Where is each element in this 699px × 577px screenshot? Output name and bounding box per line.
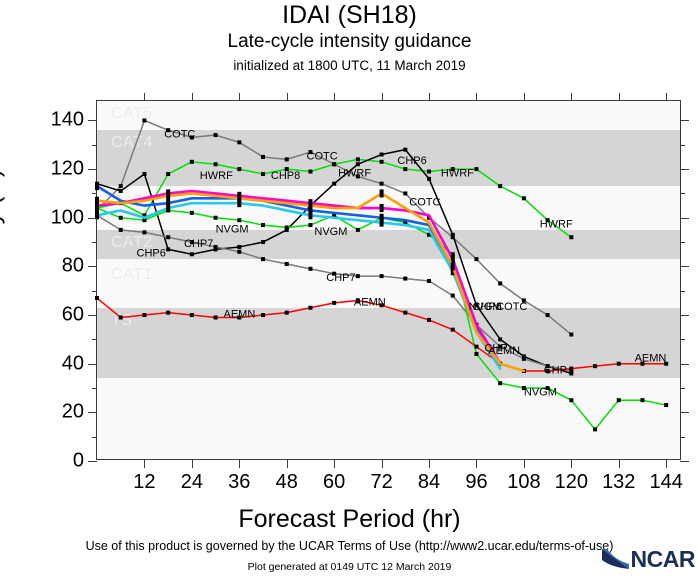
data-point (332, 301, 336, 305)
data-point (380, 189, 384, 197)
data-point (214, 216, 218, 220)
x-axis-tick-top (429, 93, 430, 101)
data-point (261, 172, 265, 176)
data-point (142, 118, 146, 122)
data-point (308, 211, 312, 219)
data-point (617, 362, 621, 366)
series-inline-label: COTC (409, 197, 440, 209)
data-point (498, 281, 502, 285)
x-axis-tick (619, 459, 620, 468)
y-axis-label: Forecast Intensity (kt) (0, 168, 7, 408)
data-point (166, 311, 170, 315)
data-point (190, 211, 194, 215)
y-axis-tick (88, 120, 97, 121)
data-point (380, 274, 384, 278)
data-point (214, 245, 218, 249)
series-inline-label: HWRF (540, 219, 573, 231)
data-point (308, 267, 312, 271)
data-point (190, 160, 194, 164)
page-title: IDAI (SH18) (0, 0, 699, 28)
data-point (119, 216, 123, 220)
data-point (403, 167, 407, 171)
series-ens-cyan (95, 199, 500, 368)
x-axis-tick (192, 459, 193, 468)
ncar-logo-text: NCAR (631, 548, 695, 571)
y-axis-minor-tick-right (680, 145, 685, 146)
y-axis-tick (88, 461, 97, 462)
x-axis-tick (571, 459, 572, 468)
data-point (593, 364, 597, 368)
series-inline-label: COTC (307, 150, 338, 162)
y-axis-tick-right (680, 315, 689, 316)
data-point (285, 262, 289, 266)
ncar-logo: NCAR (601, 547, 695, 571)
data-point (569, 333, 573, 337)
data-point (95, 296, 99, 300)
x-axis-tick-label: 60 (323, 471, 345, 494)
data-point (380, 182, 384, 186)
y-axis-minor-tick-right (680, 242, 685, 243)
data-point (119, 184, 123, 188)
x-axis-tick-label: 132 (602, 471, 635, 494)
y-axis-tick-label: 0 (73, 450, 84, 473)
title-block: IDAI (SH18) Late-cycle intensity guidanc… (0, 0, 699, 74)
data-point (380, 160, 384, 164)
data-point (261, 257, 265, 261)
series-inline-label: NVGM (524, 386, 557, 398)
ncar-swoosh-icon (601, 547, 631, 571)
series-inline-label: CHP6 (137, 248, 166, 260)
data-point (474, 257, 478, 261)
data-point (261, 313, 265, 317)
series-inline-label: COTC (164, 129, 195, 141)
data-point (569, 235, 573, 239)
series-line (97, 203, 500, 368)
x-axis-tick-top (144, 93, 145, 101)
chart-svg: COTCCOTCCOTCCOTCHWRFHWRFHWRFHWRFCHP6CHP6… (97, 101, 682, 461)
y-axis-minor-tick-right (680, 291, 685, 292)
chart-page: IDAI (SH18) Late-cycle intensity guidanc… (0, 0, 699, 577)
y-axis-tick (88, 412, 97, 413)
data-point (95, 182, 99, 190)
x-axis-tick-label: 108 (507, 471, 540, 494)
x-axis-tick-label: 84 (418, 471, 440, 494)
data-point (498, 337, 502, 341)
initialization-time: initialized at 1800 UTC, 11 March 2019 (0, 54, 699, 74)
y-axis-tick-label: 100 (51, 206, 84, 229)
y-axis-tick-right (680, 120, 689, 121)
y-axis-tick-label: 120 (51, 158, 84, 181)
data-point (332, 162, 336, 166)
data-point (498, 381, 502, 385)
plot-area: TSCAT1CAT2CAT3CAT4CAT5 COTCCOTCCOTCCOTCH… (96, 100, 681, 460)
x-axis-tick-label: 120 (555, 471, 588, 494)
data-point (522, 196, 526, 200)
series-inline-label: HWRF (441, 167, 474, 179)
data-point (332, 182, 336, 186)
data-point (451, 262, 455, 270)
y-axis-minor-tick (92, 388, 97, 389)
data-point (498, 184, 502, 188)
data-point (308, 306, 312, 310)
y-axis-tick-right (680, 218, 689, 219)
y-axis-tick-right (680, 266, 689, 267)
y-axis-tick (88, 315, 97, 316)
y-axis-minor-tick-right (680, 193, 685, 194)
data-point (237, 167, 241, 171)
x-axis-tick-top (476, 93, 477, 101)
data-point (664, 403, 668, 407)
data-point (403, 191, 407, 195)
data-point (285, 311, 289, 315)
x-axis-tick (476, 459, 477, 468)
y-axis-minor-tick-right (680, 339, 685, 340)
x-axis-tick-top (619, 93, 620, 101)
y-axis-tick-right (680, 169, 689, 170)
data-point (451, 294, 455, 298)
data-point (285, 225, 289, 229)
y-axis-tick (88, 218, 97, 219)
y-axis-tick (88, 266, 97, 267)
y-axis-minor-tick (92, 437, 97, 438)
series-inline-label: HWRF (338, 167, 371, 179)
y-axis-tick-label: 40 (62, 352, 84, 375)
data-point (474, 352, 478, 356)
x-axis-tick (144, 459, 145, 468)
x-axis-tick-top (382, 93, 383, 101)
data-point (427, 170, 431, 174)
data-point (617, 398, 621, 402)
data-point (427, 177, 431, 181)
data-point (380, 204, 384, 212)
y-axis-tick-label: 20 (62, 401, 84, 424)
series-inline-label: HWRF (200, 170, 233, 182)
y-axis-tick-label: 60 (62, 304, 84, 327)
data-point (593, 427, 597, 431)
series-inline-label: NVGM (469, 301, 502, 313)
x-axis-tick-top (334, 93, 335, 101)
data-point (356, 228, 360, 232)
data-point (142, 172, 146, 176)
data-point (95, 197, 99, 205)
data-point (285, 157, 289, 161)
series-inline-label: NVGM (314, 226, 347, 238)
data-point (403, 148, 407, 152)
series-inline-label: AEMN (224, 309, 256, 321)
data-point (261, 155, 265, 159)
x-axis-tick (666, 459, 667, 468)
data-point (569, 367, 573, 371)
data-point (119, 189, 123, 193)
x-axis-tick-label: 48 (276, 471, 298, 494)
series-chp6 (95, 148, 573, 376)
x-axis-tick (429, 459, 430, 468)
x-axis-tick (287, 459, 288, 468)
series-line (97, 208, 666, 429)
data-point (142, 313, 146, 317)
x-axis-label: Forecast Period (hr) (0, 505, 699, 534)
data-point (119, 228, 123, 232)
data-point (214, 315, 218, 319)
series-inline-label: CHP (544, 364, 567, 376)
x-axis-tick (334, 459, 335, 468)
y-axis-tick-right (680, 412, 689, 413)
data-point (166, 204, 170, 212)
data-point (451, 233, 455, 237)
data-point (166, 235, 170, 239)
data-point (569, 398, 573, 402)
y-axis-tick-label: 140 (51, 109, 84, 132)
data-point (237, 140, 241, 144)
x-axis-tick-label: 12 (133, 471, 155, 494)
data-point (474, 167, 478, 171)
data-point (356, 162, 360, 166)
data-point (237, 194, 241, 202)
y-axis-tick-right (680, 364, 689, 365)
data-point (522, 357, 526, 361)
x-axis-tick-top (666, 93, 667, 101)
data-point (119, 315, 123, 319)
data-point (166, 247, 170, 251)
y-axis-minor-tick-right (680, 437, 685, 438)
x-axis-tick-label: 96 (465, 471, 487, 494)
x-axis-tick-label: 72 (370, 471, 392, 494)
y-axis-minor-tick-right (680, 388, 685, 389)
x-axis-tick (382, 459, 383, 468)
data-point (261, 223, 265, 227)
series-inline-label: CHP (484, 343, 507, 355)
data-point (474, 345, 478, 349)
data-point (451, 328, 455, 332)
data-point (190, 252, 194, 256)
y-axis-tick-right (680, 461, 689, 462)
series-inline-label: AEMN (354, 296, 386, 308)
x-axis-tick-top (524, 93, 525, 101)
y-axis-minor-tick (92, 291, 97, 292)
data-point (214, 162, 218, 166)
y-axis-minor-tick (92, 339, 97, 340)
data-point (166, 172, 170, 176)
y-axis-minor-tick (92, 242, 97, 243)
series-inline-label: CHP6 (397, 155, 426, 167)
data-point (237, 245, 241, 249)
data-point (640, 398, 644, 402)
data-point (308, 170, 312, 174)
data-point (237, 250, 241, 254)
data-point (142, 230, 146, 234)
generation-timestamp: Plot generated at 0149 UTC 12 March 2019 (0, 561, 699, 573)
data-point (380, 219, 384, 227)
x-axis-tick-top (287, 93, 288, 101)
x-axis-tick-top (192, 93, 193, 101)
data-point (546, 313, 550, 317)
series-inline-label: AEMN (635, 352, 667, 364)
data-point (403, 311, 407, 315)
data-point (427, 318, 431, 322)
x-axis-tick-label: 144 (650, 471, 683, 494)
series-inline-label: CHP7 (184, 238, 213, 250)
data-point (261, 240, 265, 244)
series-line (97, 298, 666, 371)
data-point (403, 277, 407, 281)
data-point (356, 274, 360, 278)
series-inline-label: CHP7 (326, 272, 355, 284)
x-axis-tick-top (239, 93, 240, 101)
data-point (214, 133, 218, 137)
x-axis-tick-top (571, 93, 572, 101)
series-inline-label: NVGM (216, 223, 249, 235)
data-point (427, 279, 431, 283)
data-point (237, 218, 241, 222)
x-axis-tick (239, 459, 240, 468)
y-axis-tick (88, 364, 97, 365)
data-point (190, 313, 194, 317)
series-inline-label: CHP8 (271, 170, 300, 182)
y-axis-tick (88, 169, 97, 170)
x-axis-tick (524, 459, 525, 468)
data-point (356, 157, 360, 161)
terms-of-use-text: Use of this product is governed by the U… (0, 539, 699, 553)
y-axis-minor-tick (92, 193, 97, 194)
data-point (308, 202, 312, 210)
data-point (380, 153, 384, 157)
x-axis-tick-label: 24 (181, 471, 203, 494)
y-axis-minor-tick (92, 145, 97, 146)
page-subtitle: Late-cycle intensity guidance (0, 28, 699, 54)
data-point (166, 192, 170, 200)
y-axis-tick-label: 80 (62, 255, 84, 278)
x-axis-tick-label: 36 (228, 471, 250, 494)
data-point (308, 223, 312, 227)
